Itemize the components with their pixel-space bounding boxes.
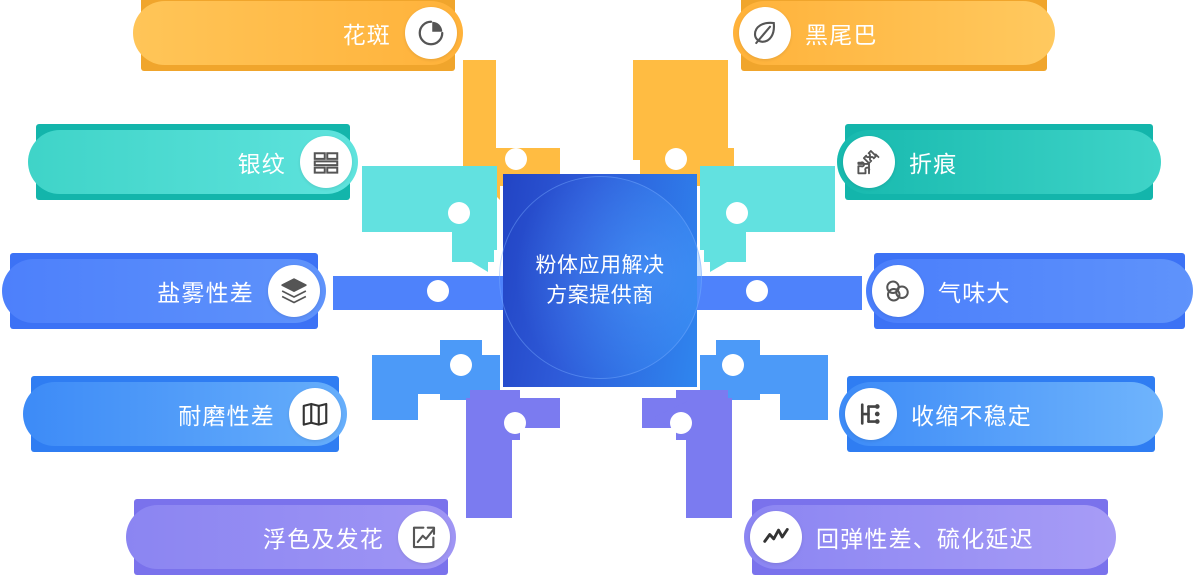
branch-right-4[interactable]: 收缩不稳定: [839, 382, 1163, 446]
branch-left-5[interactable]: 浮色及发花: [126, 505, 456, 569]
branch-left-5-label: 浮色及发花: [126, 520, 398, 554]
branch-left-2-label: 银纹: [28, 145, 300, 179]
branch-right-5[interactable]: 回弹性差、硫化延迟: [744, 505, 1116, 569]
branch-right-5-label: 回弹性差、硫化延迟: [802, 520, 1116, 554]
pill-body: 银纹: [28, 130, 358, 194]
pill-body: 黑尾巴: [733, 1, 1055, 65]
branch-left-3-label: 盐雾性差: [2, 274, 268, 308]
pill-body: 收缩不稳定: [839, 382, 1163, 446]
branch-left-4[interactable]: 耐磨性差: [23, 382, 347, 446]
branch-left-4-label: 耐磨性差: [23, 397, 289, 431]
pill-body: 浮色及发花: [126, 505, 456, 569]
pill-body: 花斑: [133, 1, 463, 65]
pill-body: 折痕: [837, 130, 1161, 194]
pill-body: 回弹性差、硫化延迟: [744, 505, 1116, 569]
connector-right-2: [700, 166, 835, 272]
recycle-circles-icon: [872, 265, 924, 317]
branch-left-3[interactable]: 盐雾性差: [2, 259, 326, 323]
center-title: 粉体应用解决 方案提供商: [503, 251, 697, 311]
puzzle-piece-icon: [843, 136, 895, 188]
branch-right-1[interactable]: 黑尾巴: [733, 1, 1055, 65]
branch-left-1-label: 花斑: [133, 16, 405, 50]
branch-right-1-label: 黑尾巴: [791, 16, 1055, 50]
branch-right-3[interactable]: 气味大: [866, 259, 1193, 323]
pill-body: 气味大: [866, 259, 1193, 323]
brick-wall-icon: [300, 136, 352, 188]
branch-left-2[interactable]: 银纹: [28, 130, 358, 194]
pill-body: 盐雾性差: [2, 259, 326, 323]
trend-up-box-icon: [398, 511, 450, 563]
infographic-canvas: 粉体应用解决 方案提供商 花斑 银纹: [0, 0, 1193, 577]
pill-body: 耐磨性差: [23, 382, 347, 446]
connector-left-4: [372, 340, 500, 420]
connector-left-5: [466, 390, 560, 518]
center-node: 粉体应用解决 方案提供商: [503, 174, 697, 387]
pie-chart-icon: [405, 7, 457, 59]
branch-right-2[interactable]: 折痕: [837, 130, 1161, 194]
connector-right-4: [700, 340, 828, 420]
line-chart-icon: [750, 511, 802, 563]
connector-left-2: [362, 166, 497, 272]
node-tree-icon: [845, 388, 897, 440]
branch-right-3-label: 气味大: [924, 274, 1193, 308]
connector-left-3: [333, 276, 503, 310]
open-book-icon: [289, 388, 341, 440]
branch-right-4-label: 收缩不稳定: [897, 397, 1163, 431]
branch-left-1[interactable]: 花斑: [133, 1, 463, 65]
connector-right-3: [696, 276, 862, 310]
connector-right-5: [642, 390, 732, 518]
branch-right-2-label: 折痕: [895, 145, 1161, 179]
layers-icon: [268, 265, 320, 317]
leaf-icon: [739, 7, 791, 59]
